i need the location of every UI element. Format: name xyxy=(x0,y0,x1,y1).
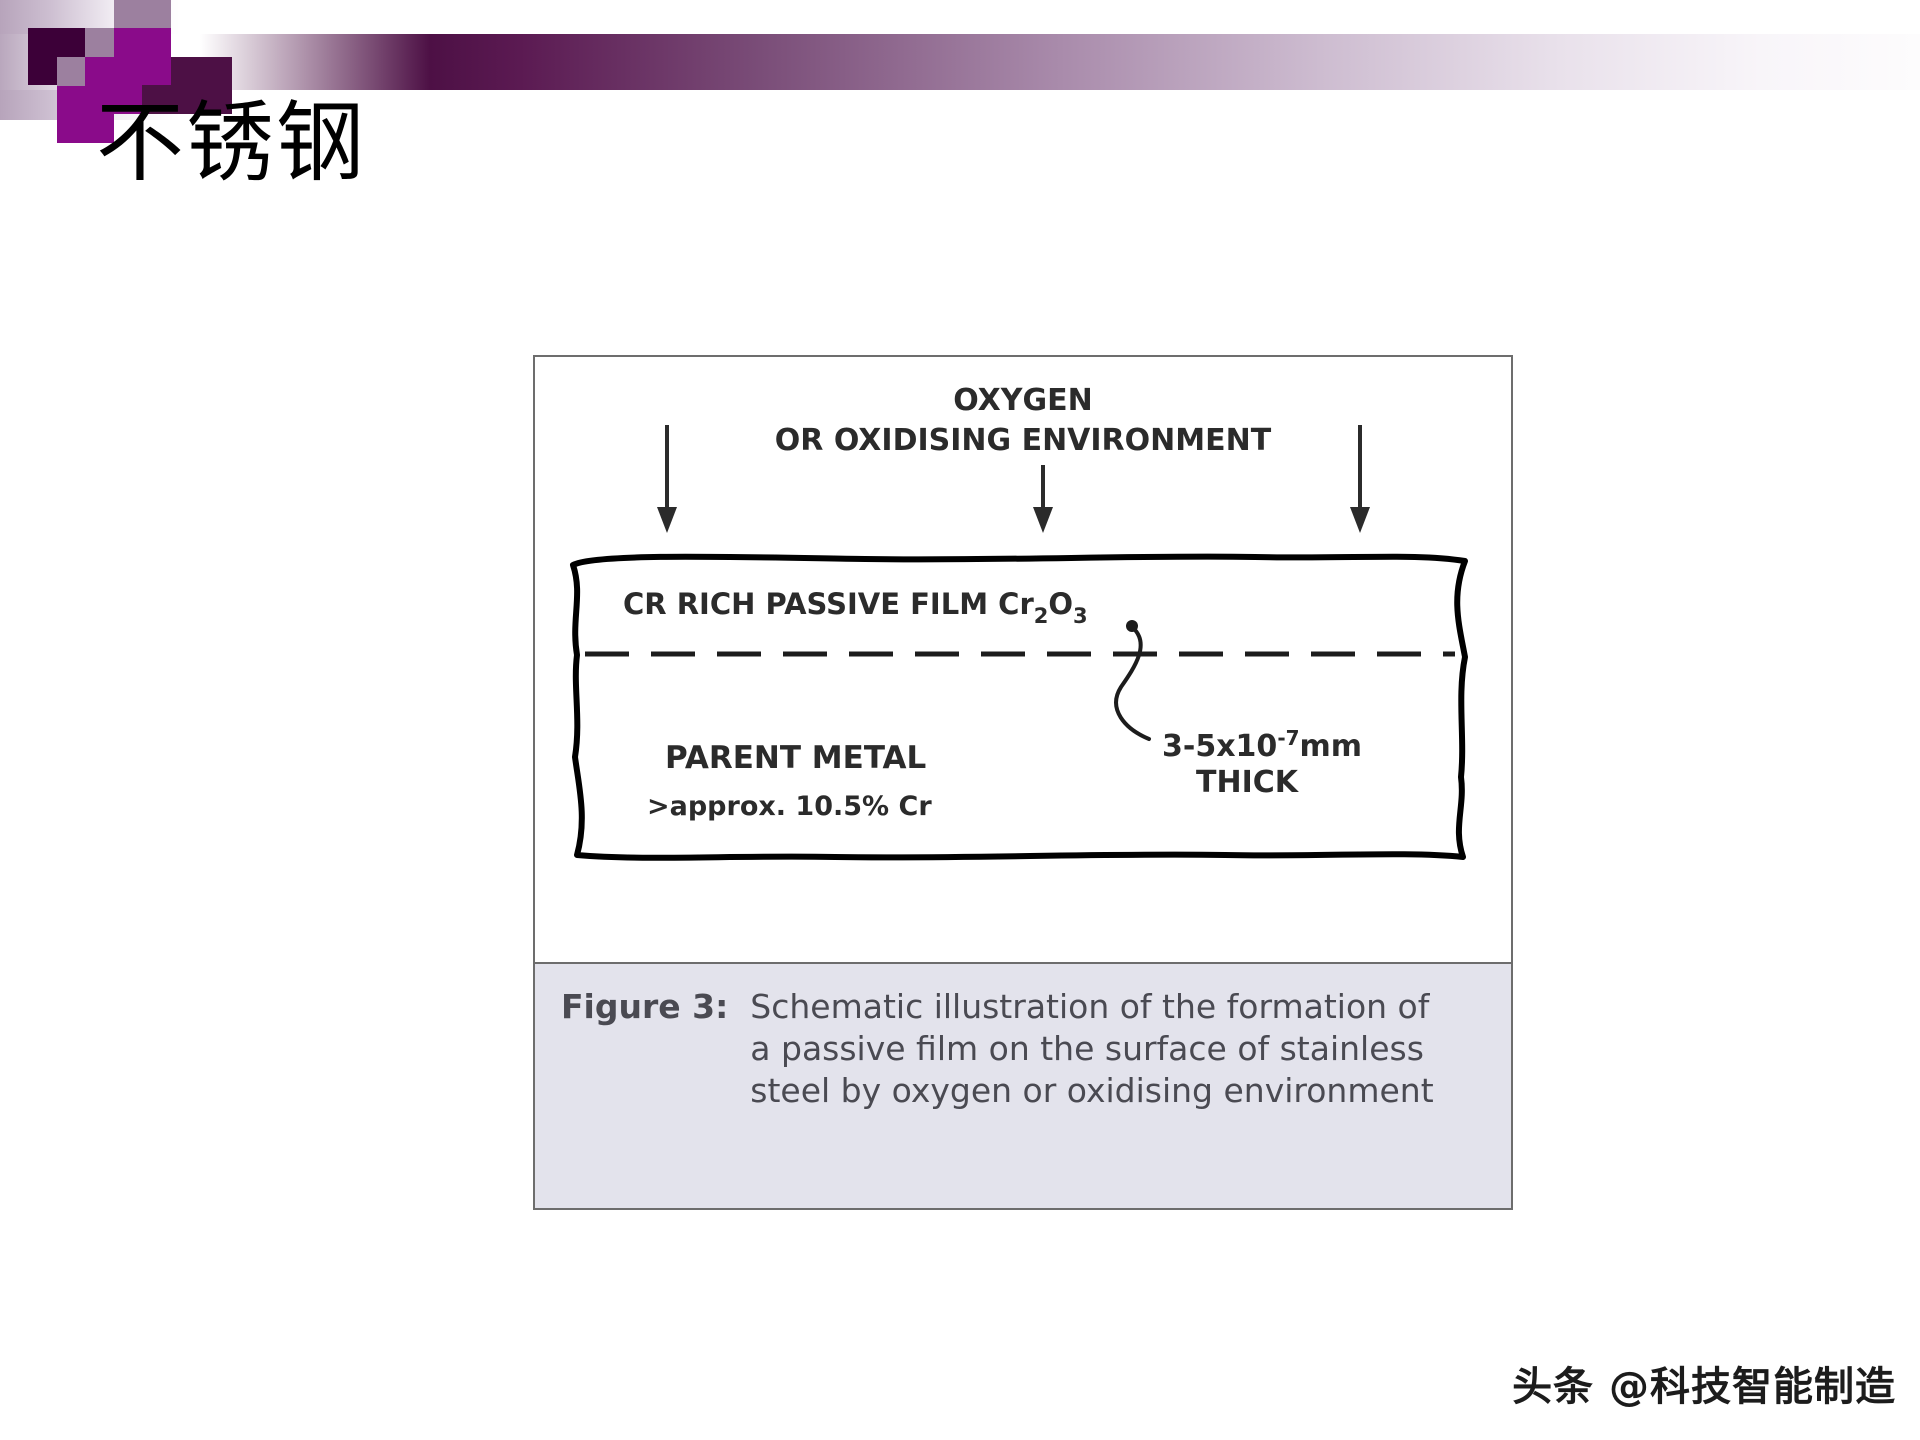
passive-film-label-main: CR RICH PASSIVE FILM Cr xyxy=(623,587,1034,621)
watermark: 头条 @科技智能制造 xyxy=(1512,1354,1896,1412)
oxygen-arrow-center xyxy=(1033,465,1053,533)
passive-film-label-sub-2: 2 xyxy=(1034,604,1049,628)
figure-caption: Figure 3: Schematic illustration of the … xyxy=(535,964,1511,1208)
figure-frame: OXYGEN OR OXIDISING ENVIRONMENT CR RI xyxy=(533,355,1513,1210)
oxygen-label-line1: OXYGEN xyxy=(953,383,1093,418)
figure-caption-label: Figure 3: xyxy=(561,986,750,1028)
passive-film-label: CR RICH PASSIVE FILM Cr2O3 xyxy=(623,587,1088,628)
passive-film-schematic-svg: OXYGEN OR OXIDISING ENVIRONMENT CR RI xyxy=(535,357,1511,962)
passive-film-label-o: O xyxy=(1048,587,1073,621)
figure-illustration: OXYGEN OR OXIDISING ENVIRONMENT CR RI xyxy=(535,357,1511,964)
oxygen-arrow-right xyxy=(1350,425,1370,533)
figure-caption-text: Schematic illustration of the formation … xyxy=(750,986,1450,1112)
thickness-exponent: -7 xyxy=(1277,726,1299,750)
header-gradient-bar xyxy=(0,34,1920,90)
passive-film-label-sub-3: 3 xyxy=(1073,604,1088,628)
parent-metal-label: PARENT METAL xyxy=(665,740,926,776)
oxygen-label-line2: OR OXIDISING ENVIRONMENT xyxy=(775,423,1272,458)
thickness-label-line2: THICK xyxy=(1196,765,1300,800)
parent-metal-composition: >approx. 10.5% Cr xyxy=(647,791,932,822)
thickness-value: 3-5x10 xyxy=(1162,729,1277,764)
thickness-label-line1: 3-5x10-7mm xyxy=(1162,726,1362,764)
page-title: 不锈钢 xyxy=(96,96,366,195)
oxygen-arrow-left xyxy=(657,425,677,533)
thickness-unit: mm xyxy=(1300,729,1363,764)
thickness-leader-line xyxy=(1116,620,1149,739)
